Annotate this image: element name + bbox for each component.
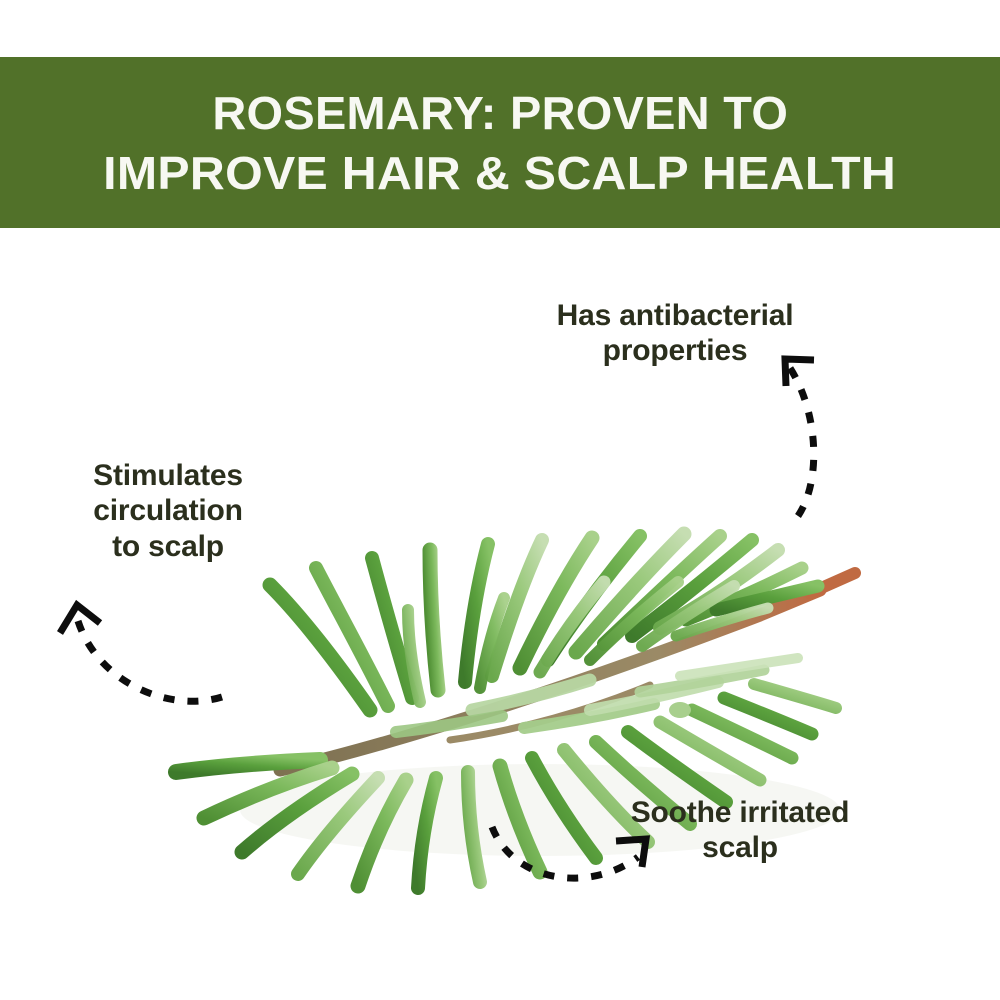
callout-circulation-line-1: Stimulates bbox=[48, 458, 288, 493]
header-title-line-1: ROSEMARY: PROVEN TO bbox=[212, 90, 788, 136]
callout-circulation-line-2: circulation bbox=[48, 493, 288, 528]
callout-circulation-line-3: to scalp bbox=[48, 529, 288, 564]
dashed-arrow-icon-soothe bbox=[470, 805, 670, 905]
callout-label-circulation: Stimulates circulation to scalp bbox=[48, 458, 288, 564]
infographic-page: ROSEMARY: PROVEN TO IMPROVE HAIR & SCALP… bbox=[0, 0, 1000, 1000]
callout-antibacterial-line-1: Has antibacterial bbox=[500, 298, 850, 333]
dashed-arrow-icon-antibacterial bbox=[760, 340, 850, 530]
header-title-line-2: IMPROVE HAIR & SCALP HEALTH bbox=[104, 150, 897, 196]
dashed-arrow-icon-circulation bbox=[50, 585, 240, 720]
header-banner: ROSEMARY: PROVEN TO IMPROVE HAIR & SCALP… bbox=[0, 57, 1000, 228]
